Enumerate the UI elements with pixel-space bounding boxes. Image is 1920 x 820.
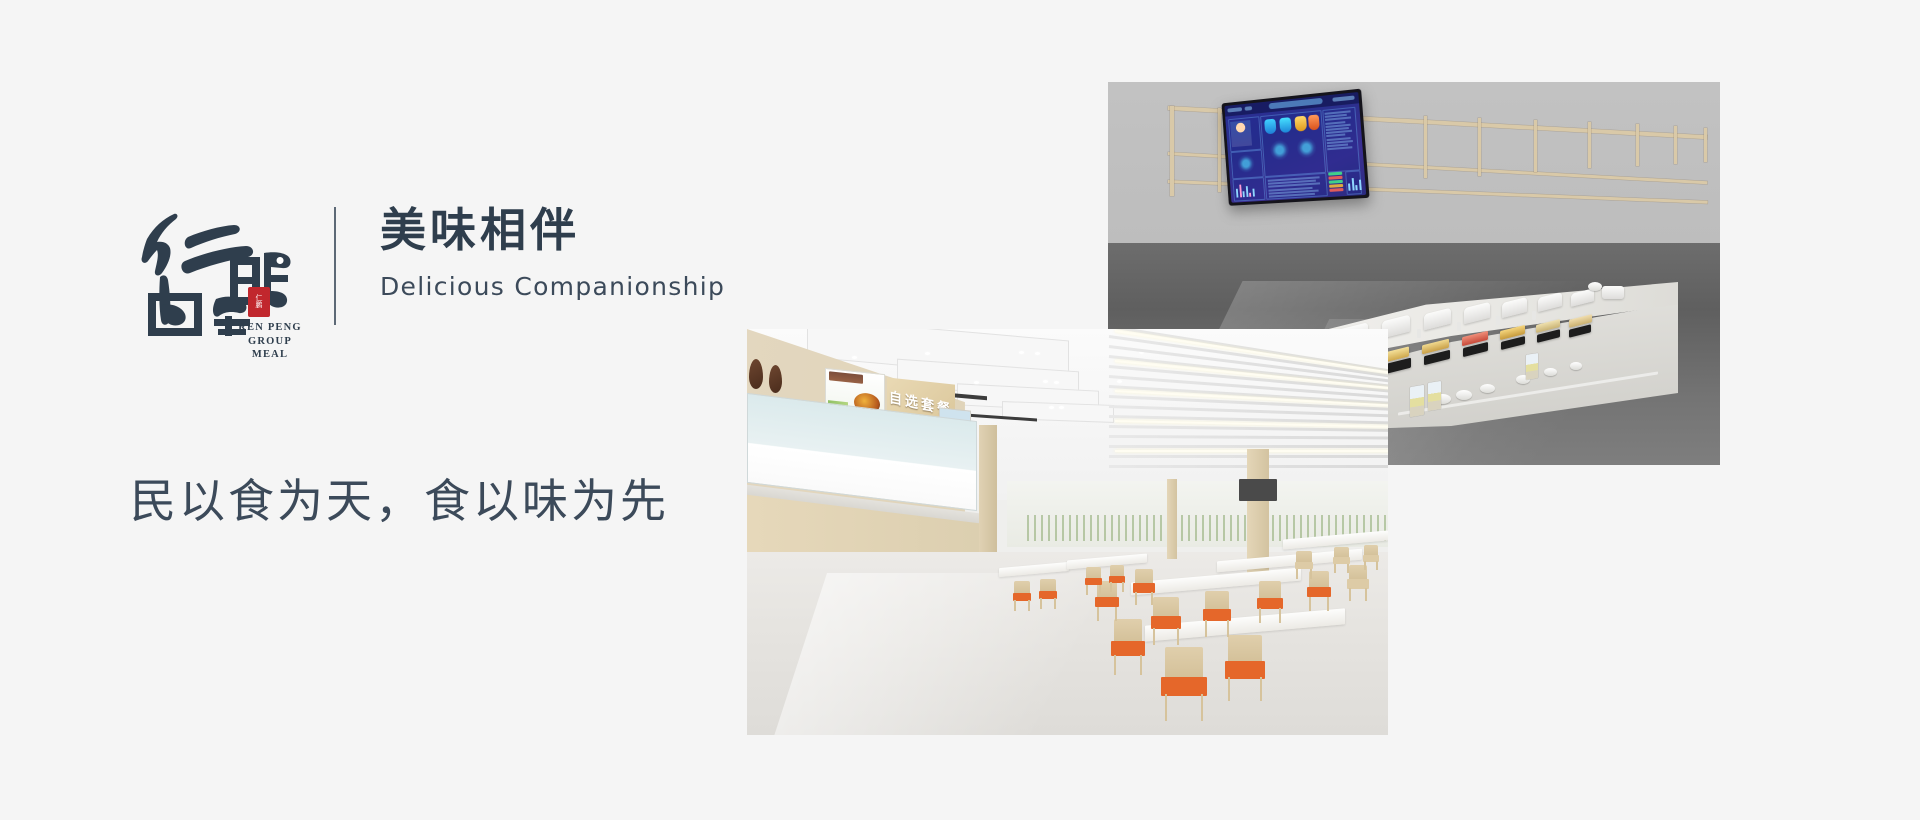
- dining-chair: [1257, 581, 1283, 623]
- brand-block: 仁 鹏 REN PENG GROUP MEAL 美味相伴 Delicious C…: [130, 195, 725, 355]
- dining-chair: [1111, 619, 1145, 675]
- logo-en-line-1: REN PENG: [230, 321, 310, 335]
- dining-chair: [1161, 647, 1207, 721]
- brand-seal-icon: 仁 鹏: [248, 287, 270, 317]
- dining-chair: [1363, 545, 1379, 570]
- dining-chair: [1295, 551, 1313, 579]
- dining-chair: [1013, 581, 1031, 611]
- brand-logo: 仁 鹏 REN PENG GROUP MEAL: [130, 195, 298, 355]
- stacked-bowls: [1480, 384, 1495, 393]
- counter-poster: [1428, 381, 1441, 411]
- counter-poster: [1526, 353, 1538, 380]
- logo-en-line-2: GROUP: [230, 335, 310, 349]
- dining-chair: [1133, 569, 1155, 605]
- wall-pillar: [979, 425, 997, 553]
- canteen-dashboard-display: [1221, 89, 1369, 206]
- dining-chair: [1085, 567, 1102, 595]
- soup-kettle: [1602, 286, 1624, 299]
- dashboard-avatar-icon: [1230, 120, 1252, 147]
- stacked-bowls: [1570, 362, 1582, 370]
- seal-char-2: 鹏: [256, 302, 263, 309]
- counter-poster: [1410, 385, 1424, 417]
- dining-chair: [1203, 591, 1231, 637]
- dining-chair: [1039, 579, 1057, 609]
- tagline-english: Delicious Companionship: [380, 272, 725, 301]
- dining-hall-column: [1167, 479, 1177, 559]
- price-tag-stand: [1532, 311, 1536, 320]
- price-tag-stand: [1457, 322, 1461, 331]
- stacked-bowls: [1544, 368, 1557, 376]
- tagline-group: 美味相伴 Delicious Companionship: [380, 195, 725, 301]
- calligraphy-logo-icon: [130, 195, 298, 340]
- logo-en-line-3: MEAL: [230, 348, 310, 362]
- main-slogan: 民以食为天，食以味为先: [130, 465, 669, 531]
- price-tag-stand: [1417, 329, 1421, 338]
- wall-decor-icon: [769, 365, 782, 393]
- dining-chair: [1347, 565, 1369, 601]
- kettle-lid: [1588, 282, 1602, 291]
- wall-decor-icon: [749, 359, 763, 389]
- brand-divider: [334, 207, 336, 325]
- dining-chair: [1109, 565, 1125, 592]
- dining-chair: [1333, 547, 1350, 573]
- brand-logo-english: REN PENG GROUP MEAL: [230, 321, 310, 362]
- price-tag-stand: [1496, 316, 1500, 325]
- stacked-bowls: [1456, 390, 1472, 400]
- dining-chair: [1151, 597, 1181, 645]
- banner-stage: 仁 鹏 REN PENG GROUP MEAL 美味相伴 Delicious C…: [0, 0, 1920, 820]
- wall-mounted-tv: [1239, 479, 1277, 501]
- dashboard-screen-content: [1224, 92, 1366, 203]
- tagline-chinese: 美味相伴: [380, 205, 725, 256]
- cafeteria-dining-hall: 自选套餐: [747, 329, 1388, 735]
- dining-chair: [1225, 635, 1265, 701]
